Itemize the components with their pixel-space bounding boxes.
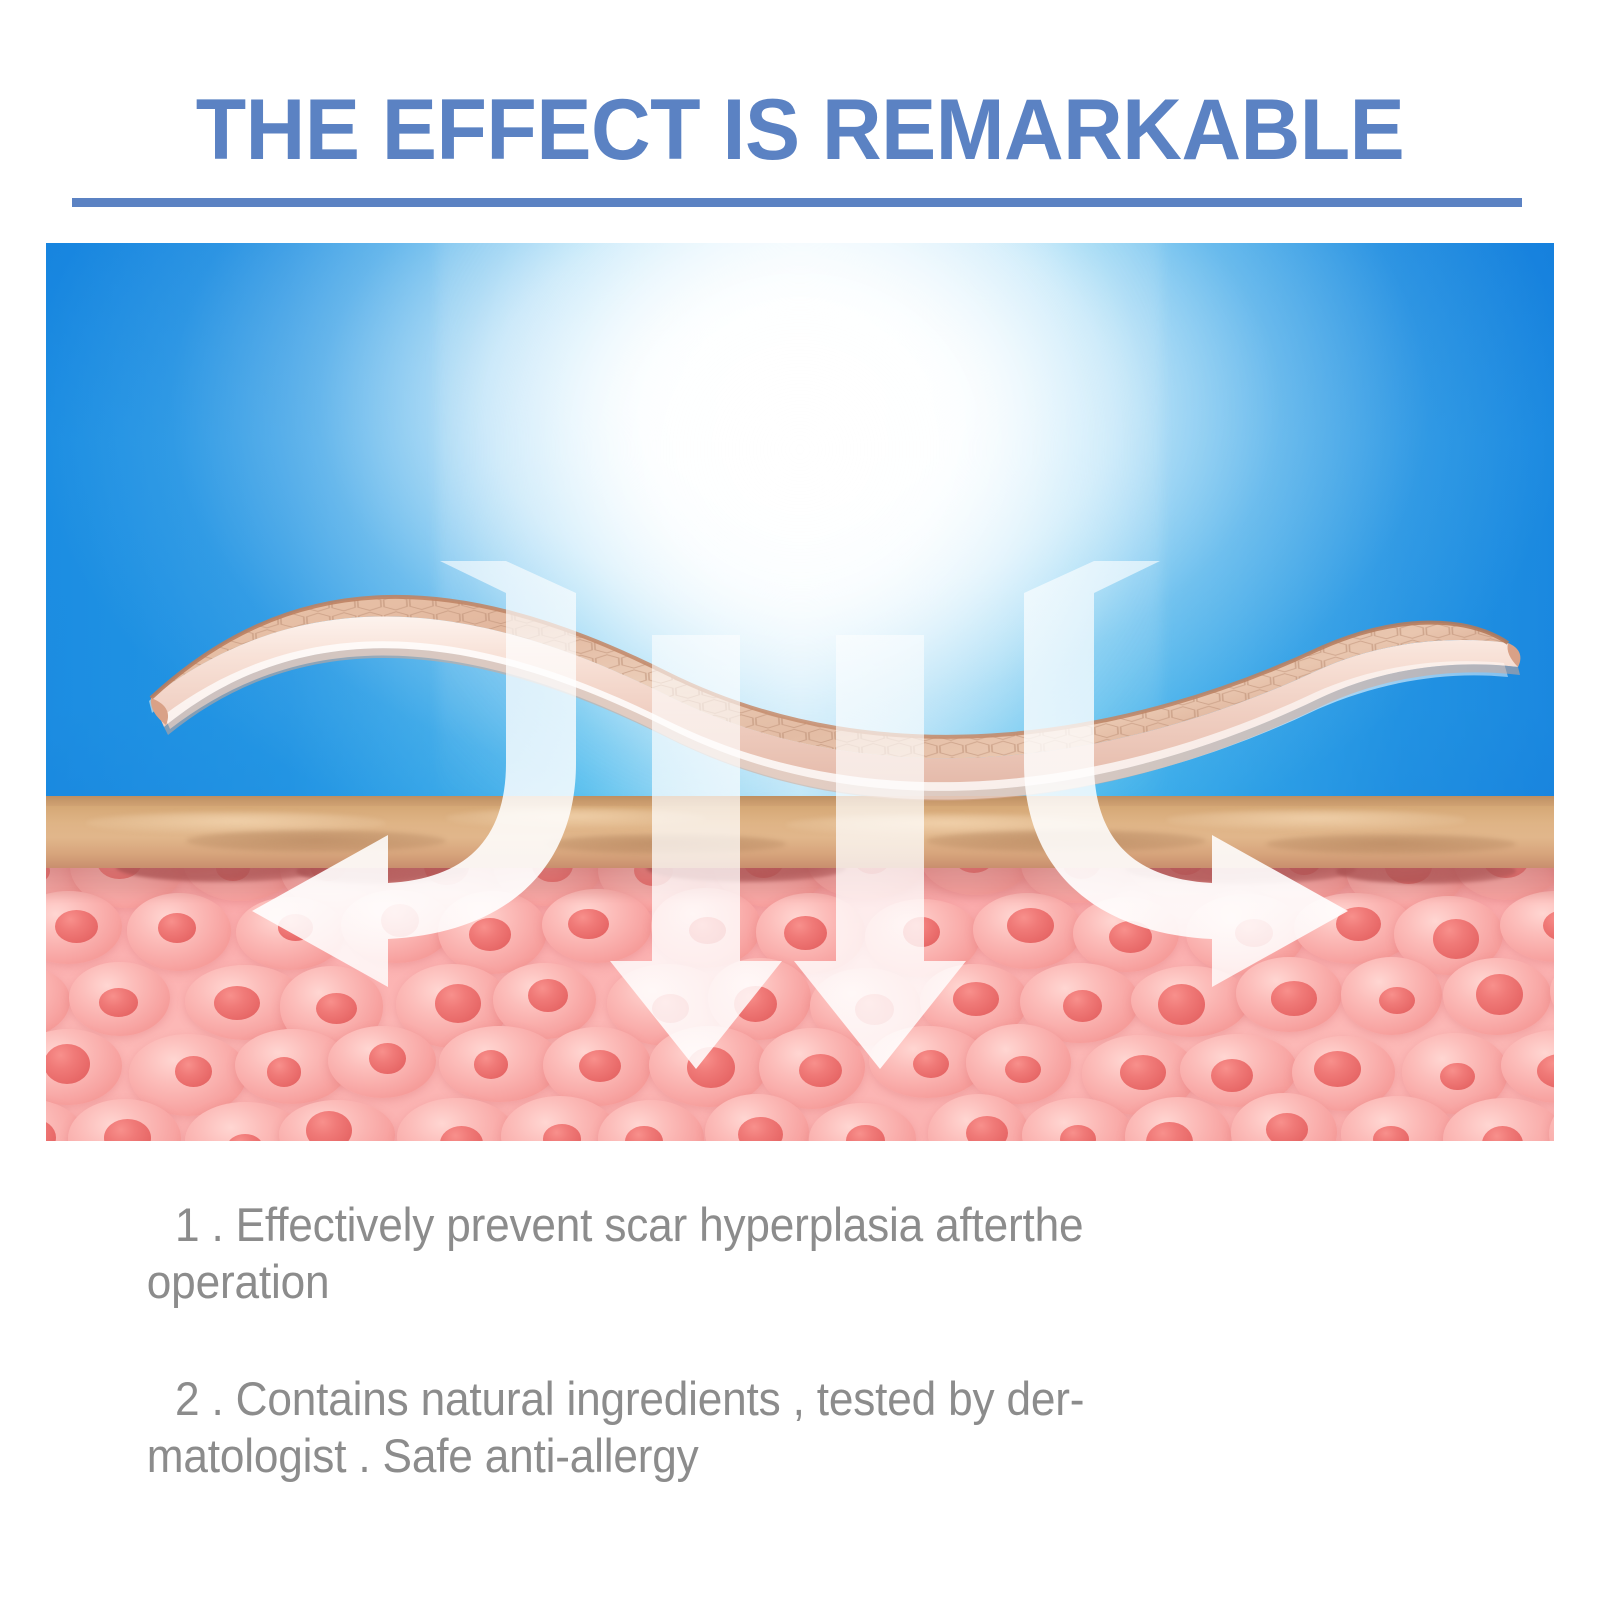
feature-list: 1 . Effectively prevent scar hyperplasia… bbox=[175, 1196, 1355, 1484]
cell-nucleus bbox=[214, 986, 260, 1020]
bullet-2-line-1: 2 . Contains natural ingredients , teste… bbox=[175, 1372, 1084, 1425]
epidermis-shadow bbox=[1266, 834, 1516, 854]
epidermis-highlight bbox=[446, 808, 706, 828]
cell-nucleus bbox=[652, 994, 689, 1023]
cell-nucleus bbox=[1271, 981, 1318, 1016]
list-item: 2 . Contains natural ingredients , teste… bbox=[175, 1370, 1284, 1484]
cell-nucleus bbox=[474, 1050, 508, 1079]
cell-nucleus bbox=[306, 1111, 352, 1141]
cell-nucleus bbox=[568, 909, 608, 939]
cell-nucleus bbox=[528, 979, 568, 1012]
bullet-1-line-1: 1 . Effectively prevent scar hyperplasia… bbox=[175, 1198, 1083, 1251]
skin-cell bbox=[1550, 956, 1554, 1029]
cell-nucleus bbox=[1235, 919, 1274, 947]
epidermis-shadow bbox=[186, 830, 446, 852]
cell-nucleus bbox=[1433, 919, 1479, 958]
cell-nucleus bbox=[1476, 974, 1523, 1015]
cell-nucleus bbox=[99, 988, 138, 1016]
cell-nucleus bbox=[784, 916, 827, 950]
cell-nucleus bbox=[1120, 1055, 1166, 1090]
cell-nucleus bbox=[913, 1050, 949, 1078]
cell-nucleus bbox=[1314, 1051, 1361, 1087]
skin-surface-edge bbox=[46, 796, 1554, 806]
hero-illustration bbox=[46, 243, 1554, 1141]
skin-cross-section bbox=[46, 796, 1554, 1141]
bullet-1-line-2: operation bbox=[147, 1253, 1284, 1310]
epidermis-layer bbox=[46, 796, 1554, 868]
cell-nucleus bbox=[855, 994, 894, 1025]
skin-cell bbox=[46, 965, 70, 1038]
cell-nucleus bbox=[175, 1056, 212, 1087]
title-underline-rule bbox=[72, 198, 1522, 207]
cell-nucleus bbox=[1007, 908, 1054, 944]
epidermis-shadow bbox=[926, 830, 1206, 852]
cell-nucleus bbox=[369, 1043, 406, 1074]
bullet-2-line-2: matologist . Safe anti-allergy bbox=[147, 1427, 1284, 1484]
list-item: 1 . Effectively prevent scar hyperplasia… bbox=[175, 1196, 1284, 1310]
cell-nucleus bbox=[1005, 1056, 1041, 1083]
cell-nucleus bbox=[55, 910, 98, 943]
center-light-glow bbox=[438, 243, 1162, 800]
page-header: THE EFFECT IS REMARKABLE bbox=[0, 78, 1600, 182]
cell-nucleus bbox=[1063, 990, 1101, 1021]
cell-nucleus bbox=[734, 986, 776, 1022]
epidermis-shadow bbox=[546, 834, 786, 854]
cell-nucleus bbox=[687, 1047, 735, 1088]
cell-nucleus bbox=[579, 1050, 621, 1082]
cell-nucleus bbox=[278, 914, 313, 940]
cell-nucleus bbox=[435, 984, 481, 1023]
page-title: THE EFFECT IS REMARKABLE bbox=[32, 78, 1568, 182]
cell-nucleus bbox=[1266, 1113, 1308, 1141]
epidermis-highlight bbox=[1166, 810, 1466, 830]
cell-nucleus bbox=[267, 1057, 302, 1086]
cell-nucleus bbox=[1440, 1063, 1474, 1091]
cell-nucleus bbox=[953, 982, 1000, 1016]
cell-nucleus bbox=[1379, 987, 1415, 1014]
